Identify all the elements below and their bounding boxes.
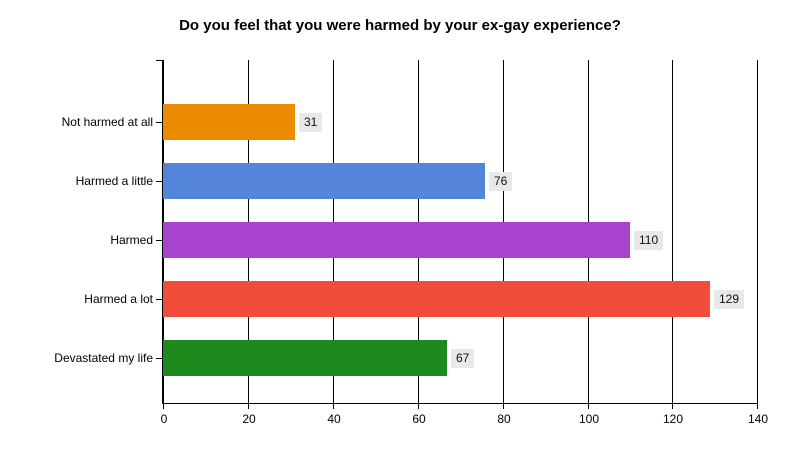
x-axis-label-60: 60 <box>412 412 425 426</box>
y-axis-label-1: Harmed a little <box>76 174 153 188</box>
bar-value-label-2: 110 <box>634 231 663 250</box>
x-axis-label-40: 40 <box>327 412 340 426</box>
x-axis-line <box>162 403 758 404</box>
bar-harmed[interactable] <box>163 222 630 258</box>
bar-devastated-my-life[interactable] <box>163 340 447 376</box>
x-axis-tick-0 <box>163 403 164 409</box>
x-axis-label-120: 120 <box>663 412 683 426</box>
x-axis-label-20: 20 <box>242 412 255 426</box>
gridline-120 <box>672 60 673 403</box>
x-axis-tick-20 <box>248 403 249 409</box>
bar-chart: Do you feel that you were harmed by your… <box>0 0 800 466</box>
x-axis-label-100: 100 <box>579 412 599 426</box>
bar-harmed-a-lot[interactable] <box>163 281 710 317</box>
gridline-140 <box>757 60 758 403</box>
y-axis-label-3: Harmed a lot <box>84 292 153 306</box>
x-axis-label-80: 80 <box>497 412 510 426</box>
y-axis-category-labels: Not harmed at all Harmed a little Harmed… <box>0 0 153 466</box>
bar-value-label-3: 129 <box>714 290 744 309</box>
bar-value-label-4: 67 <box>451 349 474 368</box>
x-axis-tick-60 <box>418 403 419 409</box>
bar-harmed-a-little[interactable] <box>163 163 485 199</box>
x-axis-tick-120 <box>672 403 673 409</box>
x-axis-tick-40 <box>333 403 334 409</box>
x-axis-label-140: 140 <box>748 412 768 426</box>
x-axis-label-0: 0 <box>161 412 168 426</box>
bar-not-harmed-at-all[interactable] <box>163 104 295 140</box>
y-axis-label-2: Harmed <box>110 233 153 247</box>
bar-value-label-0: 31 <box>299 113 322 132</box>
bar-value-label-1: 76 <box>489 172 512 191</box>
x-axis-tick-140 <box>757 403 758 409</box>
y-axis-label-0: Not harmed at all <box>62 115 153 129</box>
x-axis-tick-100 <box>588 403 589 409</box>
y-axis-label-4: Devastated my life <box>54 351 153 365</box>
x-axis-tick-80 <box>503 403 504 409</box>
plot-area: 31 76 110 129 67 <box>163 60 757 403</box>
